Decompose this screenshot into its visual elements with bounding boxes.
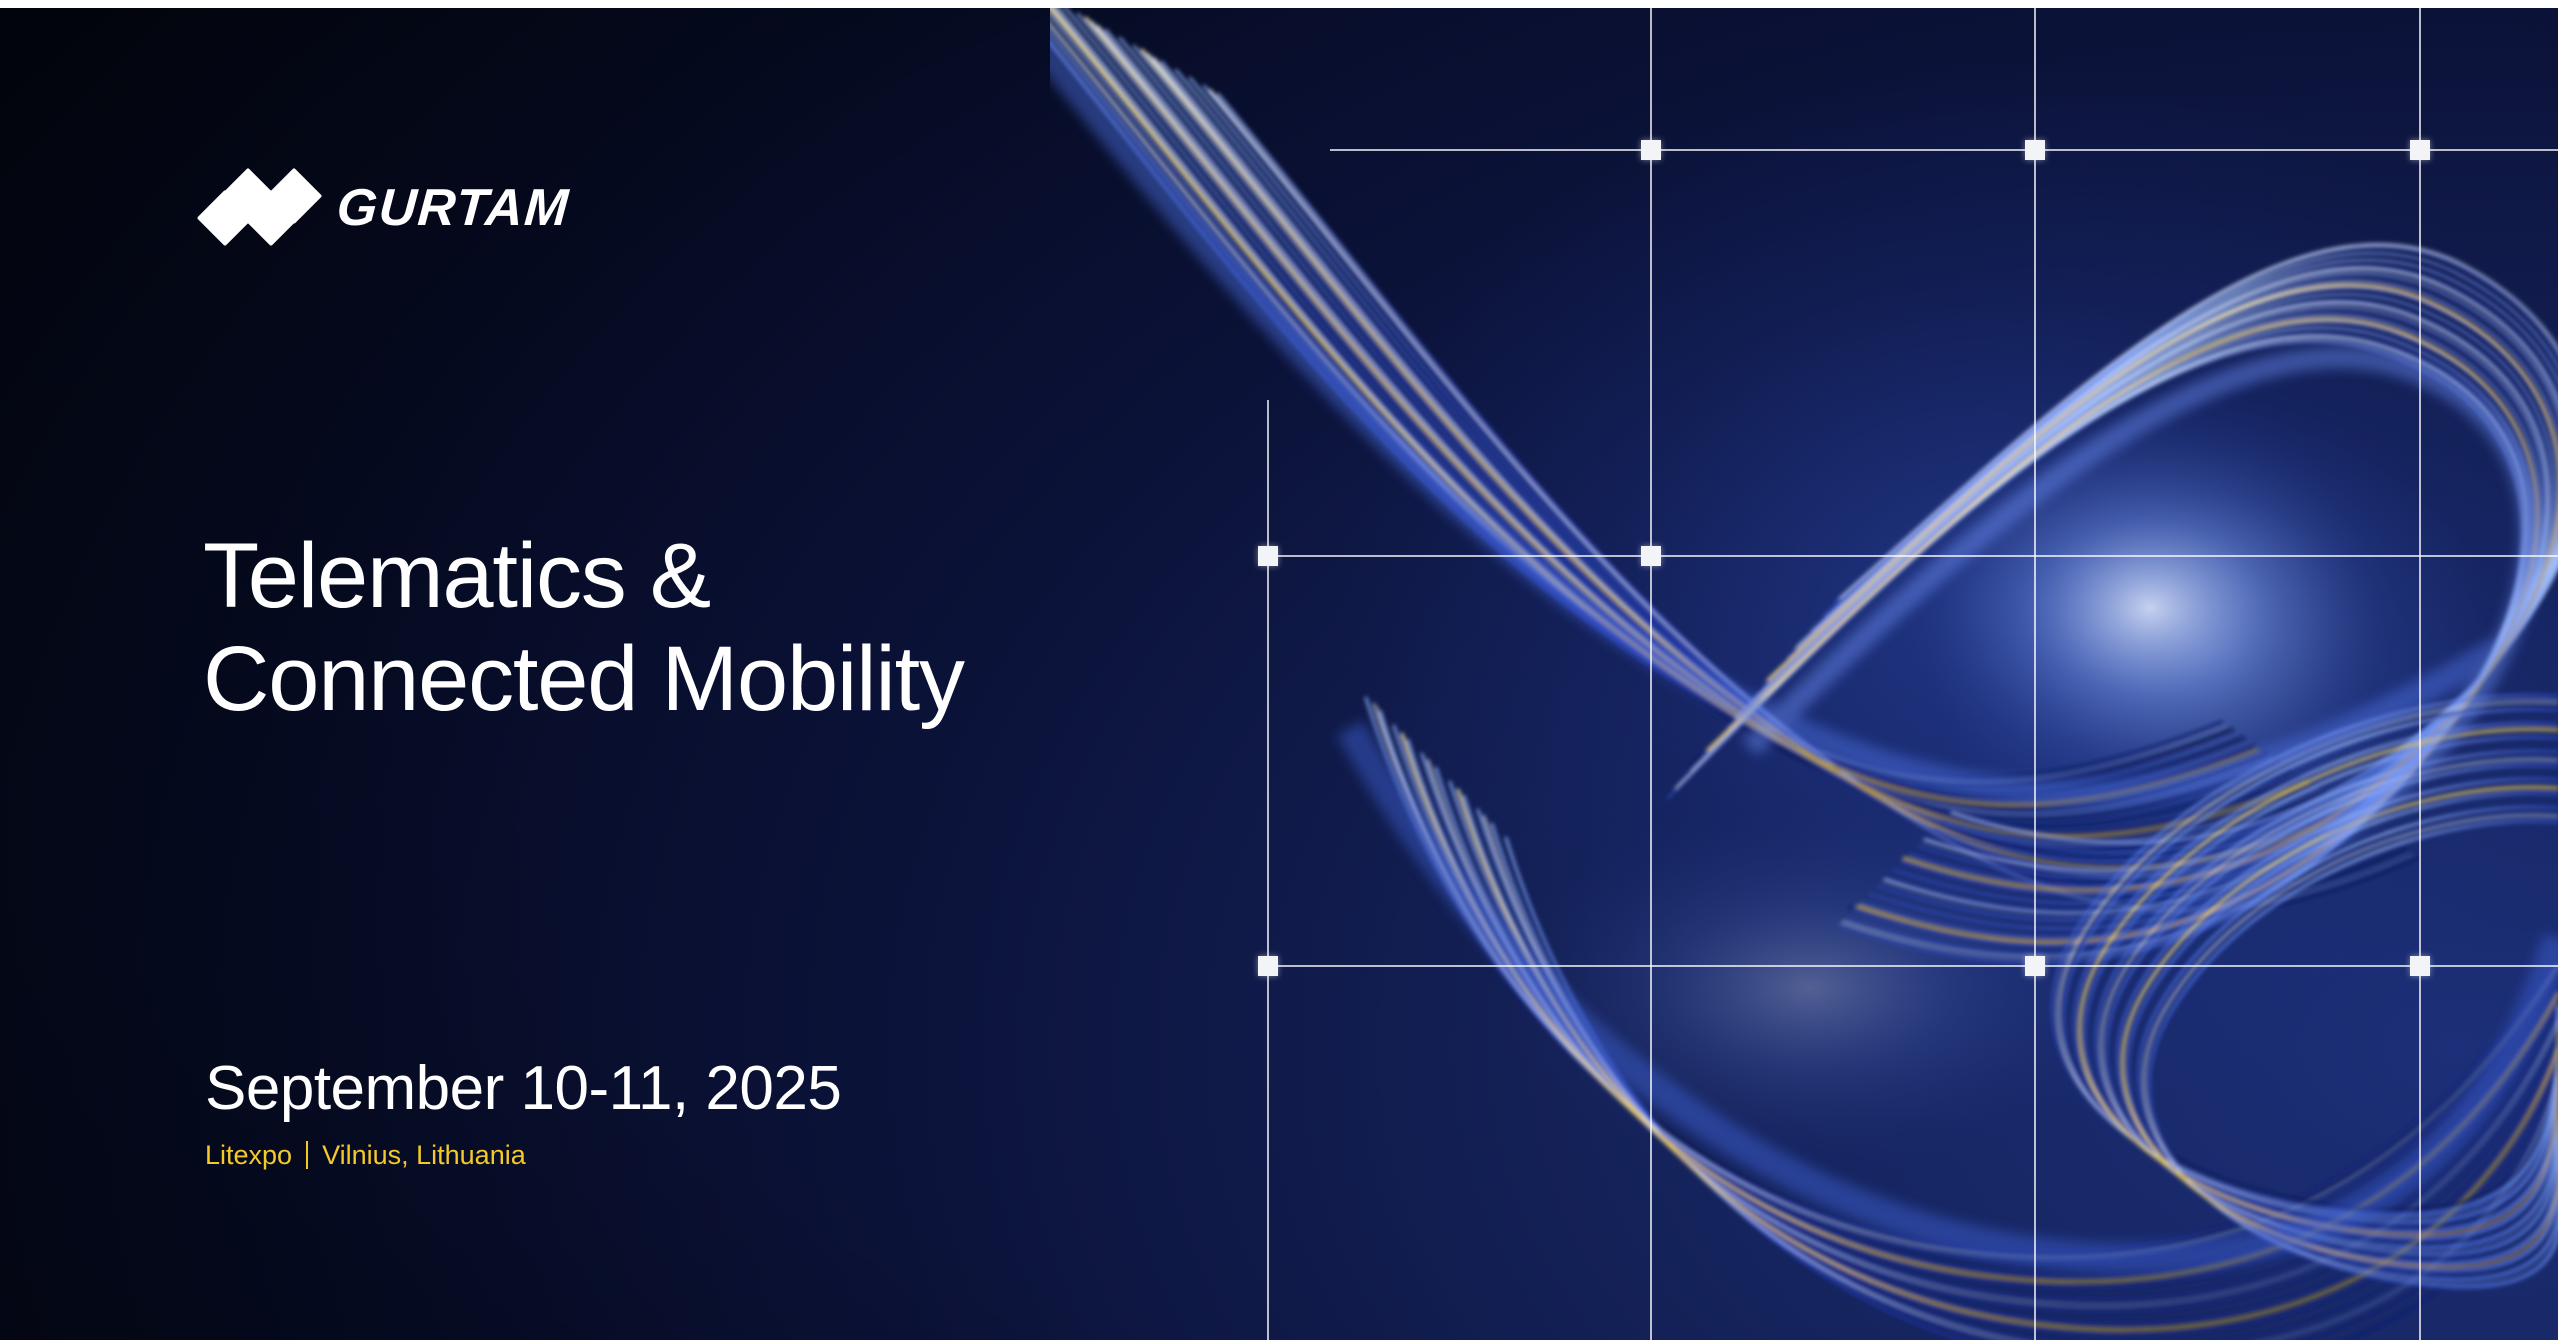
event-details: September 10-11, 2025 Litexpo Vilnius, L… xyxy=(205,1052,841,1169)
gurtam-wordmark: GURTAM xyxy=(335,182,571,234)
event-location: Vilnius, Lithuania xyxy=(322,1142,526,1169)
gurtam-logo[interactable]: GURTAM xyxy=(205,172,569,244)
top-edge-strip xyxy=(0,0,2558,8)
content-column: GURTAM Telematics & Connected Mobility S… xyxy=(0,0,1200,1340)
venue-separator-icon xyxy=(306,1141,308,1169)
abstract-ribbon-artwork xyxy=(1050,8,2558,1340)
event-dates: September 10-11, 2025 xyxy=(205,1052,841,1125)
event-venue-row: Litexpo Vilnius, Lithuania xyxy=(205,1141,841,1169)
event-banner: GURTAM Telematics & Connected Mobility S… xyxy=(0,0,2558,1340)
event-venue: Litexpo xyxy=(205,1142,292,1169)
page-title: Telematics & Connected Mobility xyxy=(203,525,964,731)
gurtam-diamonds-icon xyxy=(205,172,313,244)
